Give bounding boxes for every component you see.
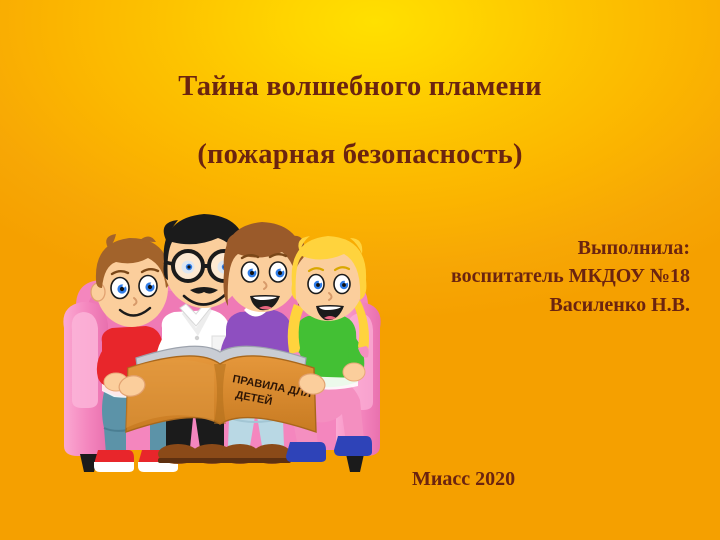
author-line-institution: воспитатель МКДОУ №18 [350, 262, 690, 290]
book: ПРАВИЛА ДЛЯ ДЕТЕЙ [126, 346, 316, 432]
author-line-name: Василенко Н.В. [350, 291, 690, 319]
title-line-1: Тайна волшебного пламени [0, 72, 720, 102]
presentation-slide: Тайна волшебного пламени (пожарная безоп… [0, 0, 720, 540]
author-block: Выполнила: воспитатель МКДОУ №18 Василен… [350, 234, 690, 319]
place-and-year: Миасс 2020 [412, 468, 515, 491]
author-line-role-prefix: Выполнила: [350, 234, 690, 262]
family-reading-illustration: ПРАВИЛА ДЛЯ ДЕТЕЙ [54, 196, 390, 502]
title-line-2: (пожарная безопасность) [0, 140, 720, 170]
page-title: Тайна волшебного пламени (пожарная безоп… [0, 72, 720, 170]
